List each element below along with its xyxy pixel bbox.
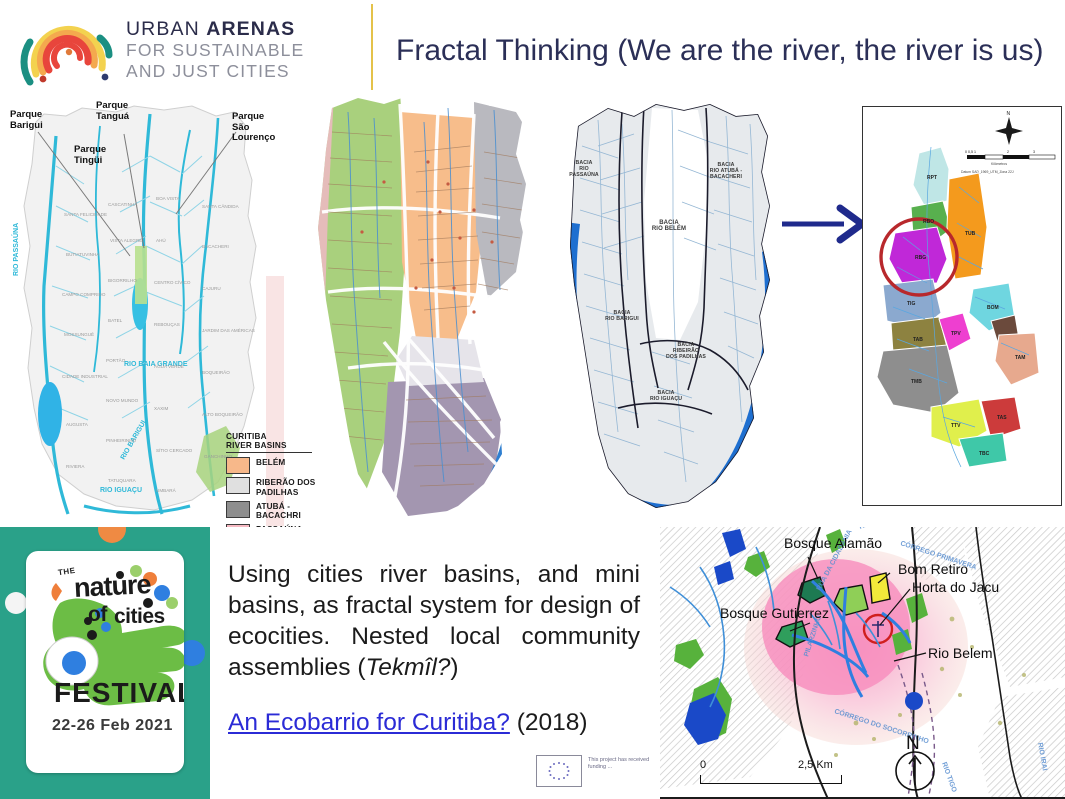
svg-text:RPT: RPT: [927, 175, 937, 181]
svg-text:RIO IGUAÇU: RIO IGUAÇU: [100, 487, 142, 494]
svg-text:BIGORRILHO: BIGORRILHO: [108, 278, 137, 283]
svg-text:CAMPO COMPRIDO: CAMPO COMPRIDO: [62, 292, 106, 297]
tnoc-festival-panel: THE nature of cities FESTIVAL 22-26 Feb …: [0, 527, 210, 799]
curitiba-parks-map: RIO PASSAÚNA RIO BAIA GRANDE RIO BARIGUI…: [4, 96, 284, 528]
svg-text:XAXIM: XAXIM: [154, 406, 168, 411]
svg-text:CIDADE INDUSTRIAL: CIDADE INDUSTRIAL: [62, 374, 108, 379]
svg-text:TTV: TTV: [951, 423, 961, 429]
svg-text:CAJURU: CAJURU: [202, 286, 221, 291]
map3-label-barigui: BACIARIO BARIGUI: [596, 310, 648, 322]
bom-retiro-patch: [870, 573, 890, 603]
reference-line: An Ecobarrio for Curitiba? (2018): [228, 707, 588, 738]
svg-text:TIG: TIG: [907, 301, 915, 307]
svg-text:CASCATINHA: CASCATINHA: [108, 202, 138, 207]
svg-text:PORTÃO: PORTÃO: [106, 357, 126, 363]
legend-label-belem: BELÉM: [256, 457, 285, 467]
ecobarrio-link[interactable]: An Ecobarrio for Curitiba?: [228, 709, 510, 736]
svg-text:TPV: TPV: [951, 331, 961, 337]
svg-text:RIVIERA: RIVIERA: [66, 464, 85, 469]
mini-basins-detail-map: N 0 0,5 1 2 3 Kilômetros Datum SAD_1969_…: [862, 106, 1062, 506]
svg-text:0 0,5 1: 0 0,5 1: [965, 150, 976, 154]
svg-text:VISTA ALEGRE: VISTA ALEGRE: [110, 238, 142, 243]
legend-title-line2: RIVER BASINS: [226, 441, 287, 450]
legend-swatch-riberao-dos-padilhas: [226, 477, 250, 494]
svg-text:TAB: TAB: [913, 337, 923, 343]
logo-word-urban: URBAN: [126, 18, 200, 40]
logo-line-1: URBAN ARENAS: [126, 19, 356, 40]
map5-label-bom-retiro: Bom Retiro: [898, 561, 968, 577]
caption-paragraph: Using cities river basins, and mini basi…: [228, 559, 640, 683]
map3-label-belem: BACIARIO BELÉM: [646, 220, 692, 232]
urban-arenas-logo-icon: [14, 8, 124, 92]
svg-text:RBO: RBO: [923, 219, 934, 225]
map5-label-horta-do-jacu: Horta do Jacu: [912, 579, 999, 595]
svg-text:2: 2: [1007, 150, 1009, 154]
svg-text:RBG: RBG: [915, 255, 926, 261]
slide-root: URBAN ARENAS FOR SUSTAINABLE AND JUST CI…: [0, 0, 1065, 799]
svg-text:SÍTIO CERCADO: SÍTIO CERCADO: [156, 447, 193, 453]
tnoc-nature-word: nature: [73, 569, 151, 604]
page-title: Fractal Thinking (We are the river, the …: [396, 34, 1056, 78]
svg-text:BUTIATUVINHA: BUTIATUVINHA: [66, 252, 100, 257]
svg-text:BACACHERI: BACACHERI: [202, 244, 229, 249]
svg-text:TMB: TMB: [911, 379, 922, 385]
svg-text:BOQUEIRÃO: BOQUEIRÃO: [202, 369, 230, 375]
svg-text:JARDIM DAS AMÉRICAS: JARDIM DAS AMÉRICAS: [202, 327, 255, 333]
logo-line-3: AND JUST CITIES: [126, 61, 356, 82]
legend-swatch-belem: [226, 457, 250, 474]
svg-text:NOVO MUNDO: NOVO MUNDO: [106, 398, 139, 403]
svg-text:ÁGUA VERDE: ÁGUA VERDE: [154, 363, 184, 369]
curitiba-grey-basins-map: BACIARIOPASSAÚNA BACIARIO ATUBÁ -BACACHE…: [548, 102, 788, 520]
legend-swatch-atuba-bacachri: [226, 501, 250, 518]
svg-text:N: N: [1007, 111, 1011, 117]
urban-arenas-wordmark: URBAN ARENAS FOR SUSTAINABLE AND JUST CI…: [126, 19, 356, 82]
svg-text:Datum SAD_1969_UTM_Zona 22J: Datum SAD_1969_UTM_Zona 22J: [961, 170, 1014, 174]
map3-label-padilhas: BACIARIBEIRÃODOS PADILHAS: [660, 342, 712, 360]
logo-line-2: FOR SUSTAINABLE: [126, 40, 356, 61]
svg-text:REBOUÇAS: REBOUÇAS: [154, 322, 180, 327]
logo-word-arenas: ARENAS: [206, 18, 295, 40]
svg-text:CENTRO CÍVICO: CENTRO CÍVICO: [154, 279, 191, 285]
svg-text:RIO PASSAÚNA: RIO PASSAÚNA: [11, 223, 20, 276]
map3-label-iguacu: BACIARIO IGUAÇU: [640, 390, 692, 402]
rio-belem-ecobarrio-map: RUA DA CIDADANIA PILARZINHO RIO DOS PINH…: [660, 527, 1065, 799]
map3-label-atuba-bacacheri: BACIARIO ATUBÁ -BACACHERI: [696, 162, 756, 180]
svg-text:BATEL: BATEL: [108, 318, 123, 323]
map1-label-parque-barigui: ParqueBarigui: [10, 110, 43, 131]
map5-label-bosque-gutierrez: Bosque Gutierrez: [720, 605, 829, 621]
svg-text:MOSSUNGUÊ: MOSSUNGUÊ: [64, 330, 94, 337]
svg-text:AUGUSTA: AUGUSTA: [66, 422, 89, 427]
caption-part-2: ): [450, 654, 458, 681]
header-divider: [371, 4, 373, 90]
compass-rose-icon: [892, 741, 938, 797]
svg-text:TBC: TBC: [979, 451, 990, 457]
curitiba-coloured-basin-mosaic: [288, 92, 550, 530]
tnoc-festival-word: FESTIVAL: [54, 677, 184, 709]
map5-label-bosque-alamao: Bosque Alamão: [784, 535, 882, 551]
svg-text:SANTA FELICIDADE: SANTA FELICIDADE: [64, 212, 107, 217]
tnoc-of-word: of: [88, 603, 107, 627]
svg-text:Kilômetros: Kilômetros: [991, 162, 1007, 166]
svg-text:TAM: TAM: [1015, 355, 1025, 361]
svg-text:ALTO BOQUEIRÃO: ALTO BOQUEIRÃO: [202, 411, 243, 417]
map1-label-parque-tangua: ParqueTanguá: [96, 101, 129, 122]
tnoc-festival-card: THE nature of cities FESTIVAL 22-26 Feb …: [26, 551, 184, 773]
reference-year: (2018): [510, 709, 588, 736]
scale-bar-line: [700, 775, 842, 784]
map1-label-parque-tingui: ParqueTingüi: [74, 145, 106, 166]
flow-arrow-icon: [782, 204, 868, 244]
legend-title-line1: CURITIBA: [226, 432, 267, 441]
tnoc-festival-dates: 22-26 Feb 2021: [52, 717, 173, 735]
map3-label-passauna: BACIARIOPASSAÚNA: [558, 160, 610, 178]
slide-header: URBAN ARENAS FOR SUSTAINABLE AND JUST CI…: [0, 0, 1065, 96]
svg-text:3: 3: [1033, 150, 1035, 154]
svg-text:BOM: BOM: [987, 305, 999, 311]
map1-label-parque-sao-lourenco: Parque SãoLourenço: [232, 112, 284, 144]
map5-label-rio-belem: Rio Belem: [928, 645, 993, 661]
svg-text:PINHEIRINHO: PINHEIRINHO: [106, 438, 137, 443]
svg-text:TAS: TAS: [997, 415, 1007, 421]
eu-flag-icon: [536, 755, 582, 787]
maps-row: RIO PASSAÚNA RIO BAIA GRANDE RIO BARIGUI…: [0, 92, 1065, 530]
svg-text:AHÚ: AHÚ: [156, 237, 166, 243]
svg-text:BOA VISTA: BOA VISTA: [156, 196, 181, 201]
scale-label-min: 0: [700, 759, 706, 771]
svg-text:TATUQUARA: TATUQUARA: [108, 478, 137, 483]
tnoc-cities-word: cities: [114, 605, 165, 629]
scale-label-max: 2,5 Km: [798, 759, 833, 771]
eu-funding-note: This project has received funding ...: [588, 757, 658, 771]
svg-text:SANTA CÂNDIDA: SANTA CÂNDIDA: [202, 203, 240, 209]
caption-italic-tekmil: Tekmîl?: [366, 654, 451, 681]
svg-text:TUB: TUB: [965, 231, 976, 237]
svg-text:UMBARÁ: UMBARÁ: [156, 487, 177, 493]
